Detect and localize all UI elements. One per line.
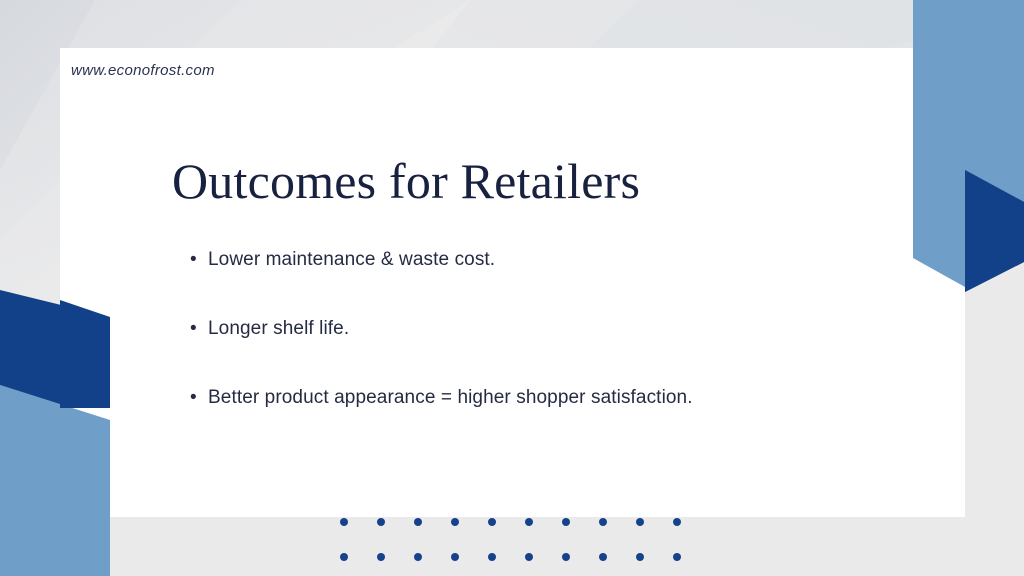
decorative-dot [451, 518, 459, 526]
decorative-dot [562, 518, 570, 526]
decorative-dot [599, 553, 607, 561]
dot-grid-decoration [340, 518, 690, 576]
decorative-dot [599, 518, 607, 526]
slide-canvas: www.econofrost.com Outcomes for Retailer… [0, 0, 1024, 576]
bullet-text: Longer shelf life. [208, 318, 349, 339]
decorative-dot [340, 553, 348, 561]
bullet-item: • Better product appearance = higher sho… [190, 374, 750, 422]
bullet-marker-icon: • [190, 236, 208, 284]
decorative-dot [636, 518, 644, 526]
decorative-dot [636, 553, 644, 561]
decorative-dot [451, 553, 459, 561]
decorative-dot [673, 553, 681, 561]
decorative-dot [377, 553, 385, 561]
decorative-dot [377, 518, 385, 526]
decorative-dot [414, 553, 422, 561]
decorative-dot [414, 518, 422, 526]
bullet-list: • Lower maintenance & waste cost. • Long… [190, 236, 750, 422]
decorative-dot [673, 518, 681, 526]
decorative-dot [525, 518, 533, 526]
bullet-marker-icon: • [190, 305, 208, 353]
bullet-text: Lower maintenance & waste cost. [208, 249, 495, 270]
decorative-dot [562, 553, 570, 561]
website-url: www.econofrost.com [71, 62, 215, 79]
bullet-text: Better product appearance = higher shopp… [208, 387, 693, 408]
decorative-dot [340, 518, 348, 526]
bullet-marker-icon: • [190, 374, 208, 422]
bullet-item: • Lower maintenance & waste cost. [190, 236, 750, 284]
decorative-dot [525, 553, 533, 561]
decorative-dot [488, 518, 496, 526]
bullet-item: • Longer shelf life. [190, 305, 750, 353]
decorative-dot [488, 553, 496, 561]
slide-title: Outcomes for Retailers [172, 155, 640, 208]
